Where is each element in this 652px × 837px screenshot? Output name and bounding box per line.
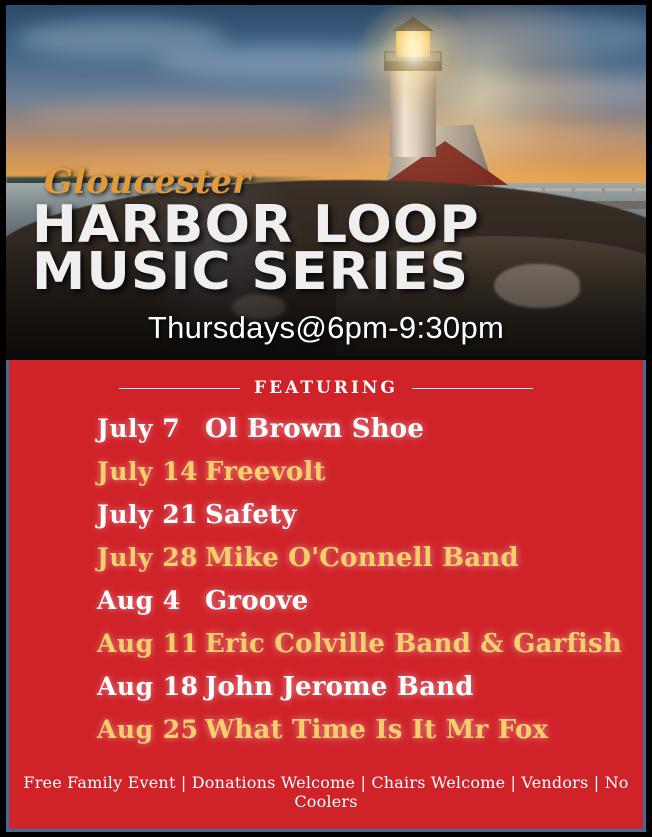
lineup-date: Aug 11 [97,629,205,658]
lineup-row: Aug 11Eric Colville Band & Garfish [97,629,623,659]
lineup-act-name: Mike O'Connell Band [205,543,519,573]
lineup-date: July 14 [97,457,205,486]
lineup-row: July 7Ol Brown Shoe [97,414,623,444]
lineup-date: July 7 [97,414,205,443]
lineup-act-name: Safety [205,500,297,530]
title-line-2: MUSIC SERIES [32,248,646,297]
lineup-act-name: Eric Colville Band & Garfish [205,629,622,659]
featuring-label: FEATURING [254,378,398,398]
divider-right [412,388,533,389]
city-name: Gloucester [44,165,646,199]
lineup-act-name: What Time Is It Mr Fox [205,715,548,745]
cloud-shape [26,101,326,129]
lineup-date: July 28 [97,543,205,572]
lineup-act-name: Groove [205,586,308,616]
lineup-date: Aug 18 [97,672,205,701]
lineup-act-name: Ol Brown Shoe [205,414,424,444]
lineup-date: July 21 [97,500,205,529]
lineup-act-name: Freevolt [205,457,326,487]
lineup-row: July 28Mike O'Connell Band [97,543,623,573]
poster-headline-block: Gloucester HARBOR LOOP MUSIC SERIES [6,165,646,298]
featuring-header: FEATURING [9,378,643,398]
lineup-row: July 14Freevolt [97,457,623,487]
footer-note: Free Family Event | Donations Welcome | … [9,773,643,811]
lineup-date: Aug 25 [97,715,205,744]
schedule-text: Thursdays@6pm-9:30pm [6,310,646,346]
lineup-row: July 21Safety [97,500,623,530]
lineup-act-name: John Jerome Band [205,672,474,702]
lineup-row: Aug 18John Jerome Band [97,672,623,702]
lineup-panel: FEATURING July 7Ol Brown ShoeJuly 14Free… [6,360,646,832]
lighthouse-sunset-photo: Gloucester HARBOR LOOP MUSIC SERIES Thur… [6,5,646,360]
lineup-date: Aug 4 [97,586,205,615]
divider-left [119,388,240,389]
event-poster: Gloucester HARBOR LOOP MUSIC SERIES Thur… [0,0,652,837]
lineup-row: Aug 25What Time Is It Mr Fox [97,715,623,745]
lineup-list: July 7Ol Brown ShoeJuly 14FreevoltJuly 2… [9,414,643,745]
lineup-row: Aug 4Groove [97,586,623,616]
